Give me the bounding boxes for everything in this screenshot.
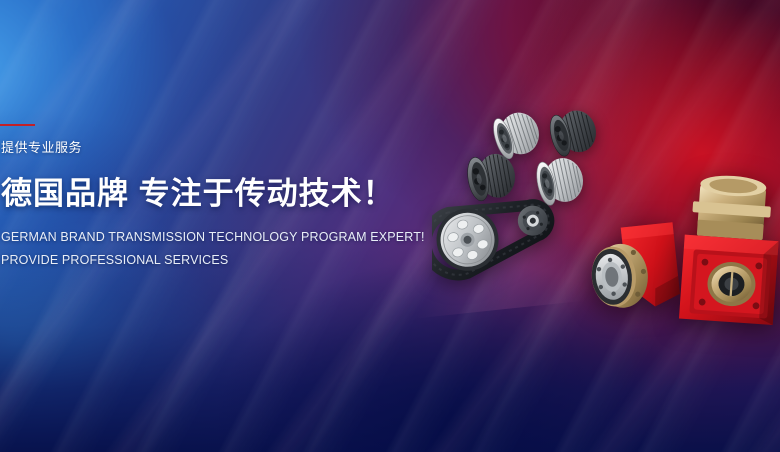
page-title: 德国品牌 专注于传动技术！: [1, 168, 395, 213]
english-tagline-line1: GERMAN BRAND TRANSMISSION TECHNOLOGY PRO…: [1, 230, 425, 244]
promo-banner: 提供专业服务 德国品牌 专注于传动技术！ GERMAN BRAND TRANSM…: [0, 0, 780, 452]
right-angle-gearbox-right-icon: [668, 160, 780, 336]
headline-copy-block: 提供专业服务 德国品牌 专注于传动技术！ GERMAN BRAND TRANSM…: [0, 0, 420, 452]
subtitle-text: 提供专业服务: [1, 137, 82, 156]
timing-belt-and-sprocket-icon: [432, 188, 582, 308]
english-tagline-line2: PROVIDE PROFESSIONAL SERVICES: [1, 253, 228, 267]
red-accent-bar: [0, 124, 35, 126]
